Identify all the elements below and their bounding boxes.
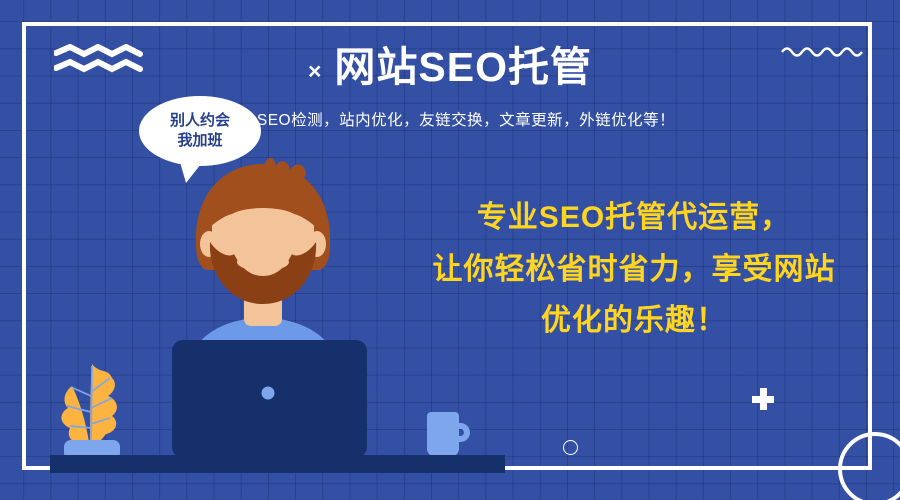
slogan-block: 专业SEO托管代运营， 让你轻松省时省力，享受网站 优化的乐趣！ <box>398 192 870 347</box>
header-block: × 网站SEO托管 含：SEO检测，站内优化，友链交换，文章更新，外链优化等！ <box>0 42 900 130</box>
seo-hosting-banner: 别人约会 我加班 × 网站SEO托管 含：SEO检测，站内优化，友链交换，文章更… <box>0 0 900 500</box>
small-circle-outline-icon <box>563 440 578 455</box>
page-title: 网站SEO托管 <box>334 42 592 93</box>
desk-surface <box>50 455 505 473</box>
coffee-mug <box>427 412 463 456</box>
page-subtitle: 含：SEO检测，站内优化，友链交换，文章更新，外链优化等！ <box>0 108 900 130</box>
slogan-line-2: 让你轻松省时省力，享受网站 <box>398 244 870 296</box>
mug-handle <box>453 423 470 442</box>
laptop <box>172 340 367 458</box>
laptop-logo-dot <box>261 387 274 400</box>
corner-circle-outline-icon <box>838 432 900 500</box>
title-row: × 网站SEO托管 <box>0 42 900 93</box>
speech-bubble-line-1: 别人约会 <box>170 111 230 131</box>
plus-mark-icon <box>752 388 774 410</box>
slogan-line-3: 优化的乐趣！ <box>398 295 870 347</box>
speech-bubble-line-2: 我加班 <box>177 131 222 151</box>
speech-bubble: 别人约会 我加班 <box>139 96 261 166</box>
close-icon: × <box>308 60 321 83</box>
potted-leaf-plant <box>56 352 128 460</box>
slogan-line-1: 专业SEO托管代运营， <box>398 192 870 244</box>
